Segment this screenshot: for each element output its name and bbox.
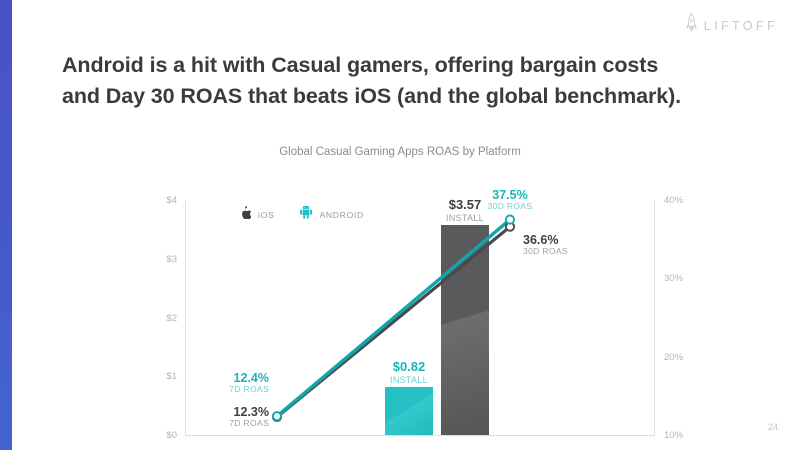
annotation-android-7d-caption: 7D ROAS [183, 385, 269, 395]
point-android-30d [506, 216, 514, 224]
brand-wordmark: LIFTOFF [704, 19, 778, 33]
roas-line-series [185, 200, 655, 435]
annotation-ios-30d-caption: 30D ROAS [523, 247, 568, 257]
annotation-android-7d: 12.4% 7D ROAS [183, 371, 269, 395]
y-tick-left-4: $4 [166, 196, 177, 206]
annotation-ios-30d-value: 36.6% [523, 233, 568, 247]
chart-title: Global Casual Gaming Apps ROAS by Platfo… [0, 146, 800, 158]
rocket-icon [686, 13, 697, 38]
roas-chart: $4 $3 $2 $1 $0 40% 30% 20% 10% i [160, 185, 680, 435]
y-tick-left-2: $2 [166, 314, 177, 324]
annotation-ios-30d: 36.6% 30D ROAS [523, 233, 568, 257]
y-tick-right-10: 10% [664, 431, 683, 441]
y-tick-left-0: $0 [166, 431, 177, 441]
page-number: 24 [768, 422, 778, 432]
x-axis-baseline [185, 435, 655, 436]
y-tick-right-20: 20% [664, 353, 683, 363]
annotation-android-30d-caption: 30D ROAS [466, 202, 554, 212]
brand-logo: LIFTOFF [686, 13, 778, 38]
annotation-android-30d-value: 37.5% [466, 188, 554, 202]
chart-plot-area: $4 $3 $2 $1 $0 40% 30% 20% 10% i [185, 200, 655, 435]
point-android-7d [273, 412, 281, 420]
annotation-ios-7d-caption: 7D ROAS [179, 419, 269, 429]
slide: LIFTOFF Android is a hit with Casual gam… [0, 0, 800, 450]
page-title: Android is a hit with Casual gamers, off… [62, 50, 722, 111]
y-tick-left-1: $1 [166, 372, 177, 382]
left-accent-bar [0, 0, 12, 450]
y-tick-right-40: 40% [664, 196, 683, 206]
annotation-ios-7d: 12.3% 7D ROAS [179, 405, 269, 429]
annotation-ios-7d-value: 12.3% [179, 405, 269, 419]
y-tick-left-3: $3 [166, 255, 177, 265]
headline-line-2: and Day 30 ROAS that beats iOS (and the … [62, 81, 722, 112]
headline-line-1: Android is a hit with Casual gamers, off… [62, 50, 722, 81]
line-android-roas [277, 220, 510, 417]
y-tick-right-30: 30% [664, 274, 683, 284]
annotation-android-30d: 37.5% 30D ROAS [466, 188, 554, 212]
annotation-android-7d-value: 12.4% [183, 371, 269, 385]
